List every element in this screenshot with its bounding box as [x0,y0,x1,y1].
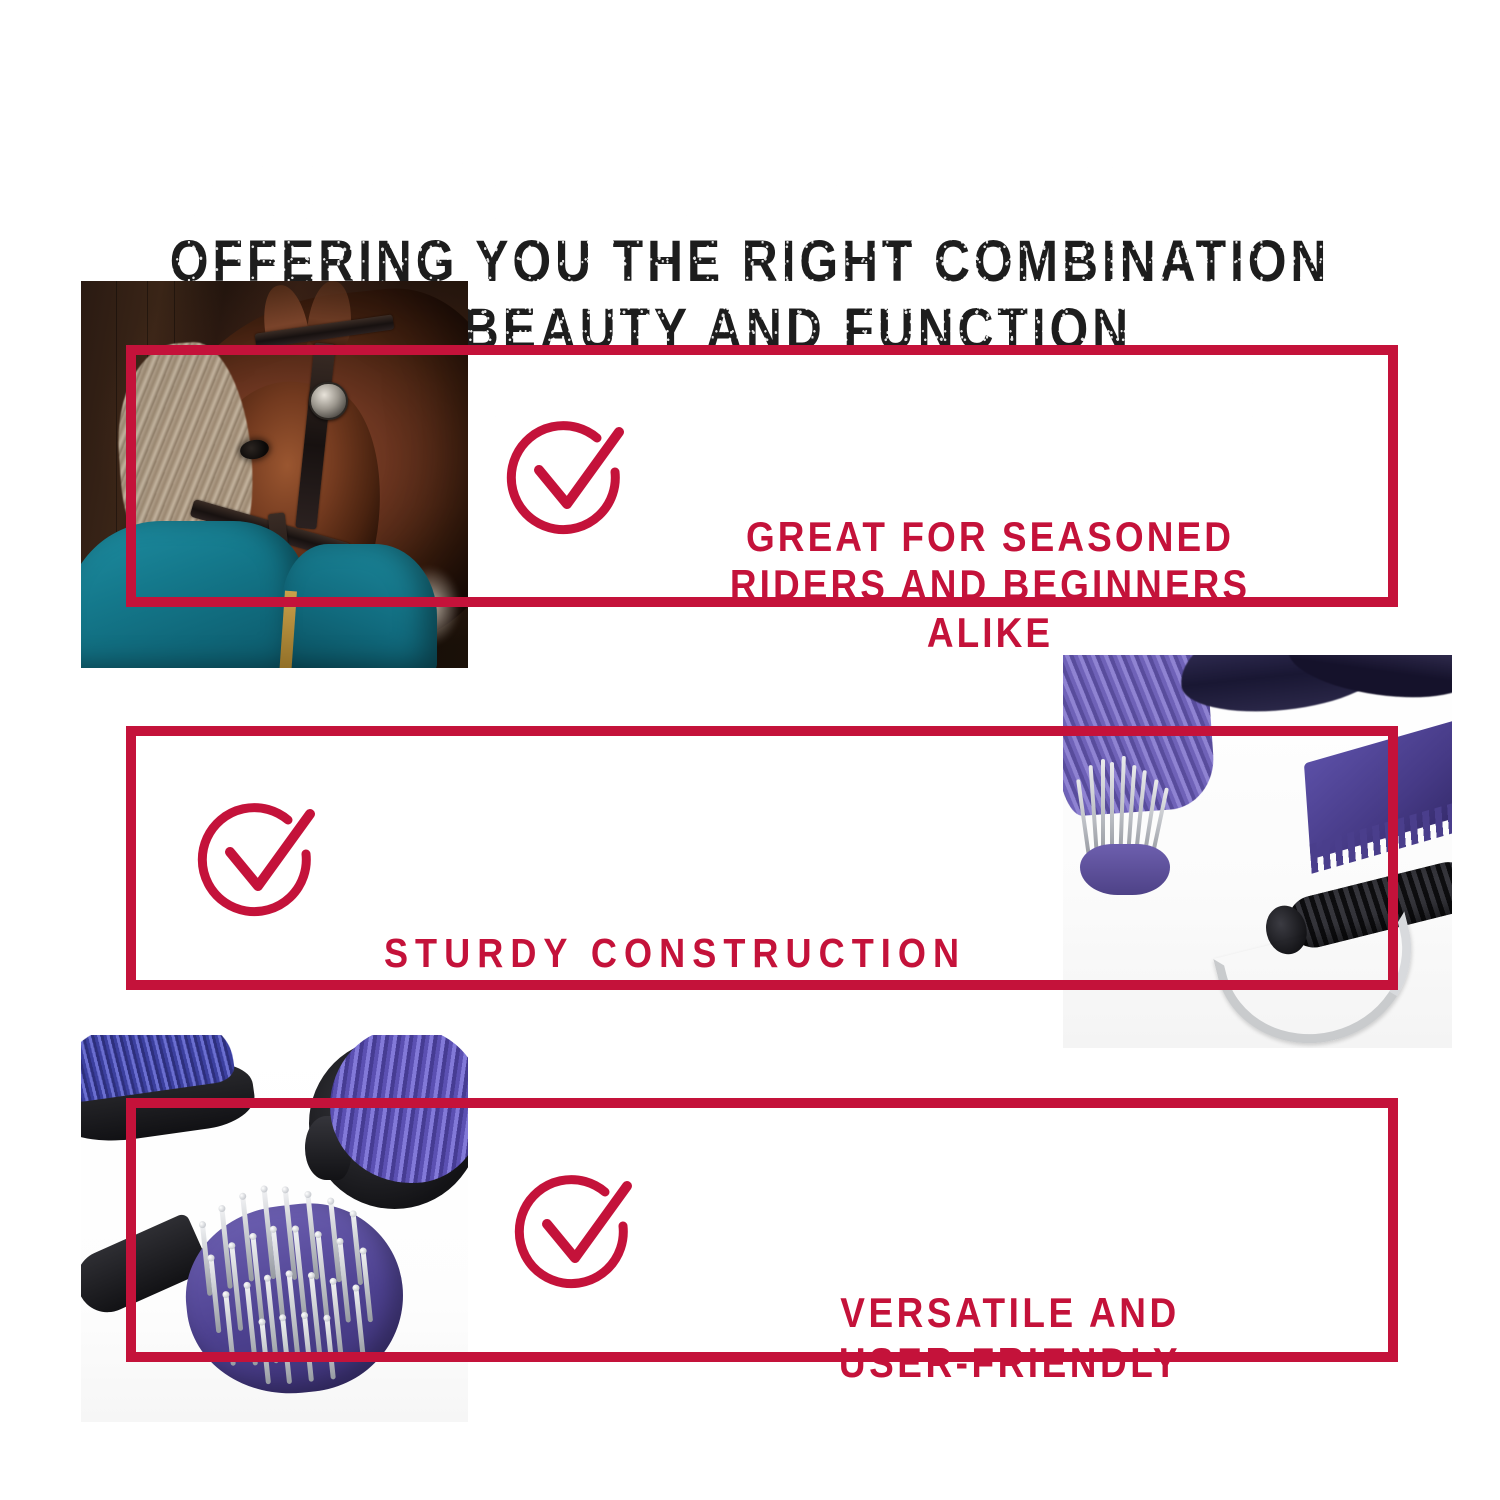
feature-2-label: STURDY CONSTRUCTION [371,833,978,977]
feature-1-text: GREAT FOR SEASONED RIDERS AND BEGINNERS … [730,513,1250,656]
check-circle-icon [513,1164,641,1292]
feature-1-label: GREAT FOR SEASONED RIDERS AND BEGINNERS … [700,417,1281,657]
infographic-page: OFFERING YOU THE RIGHT COMBINATION OF BE… [0,0,1500,1500]
feature-3-label: VERSATILE AND USER-FRIENDLY [737,1188,1283,1388]
check-circle-icon [196,792,324,920]
feature-2-text: STURDY CONSTRUCTION [384,930,966,976]
check-circle-icon [505,410,633,538]
feature-3-text: VERSATILE AND USER-FRIENDLY [839,1289,1181,1386]
